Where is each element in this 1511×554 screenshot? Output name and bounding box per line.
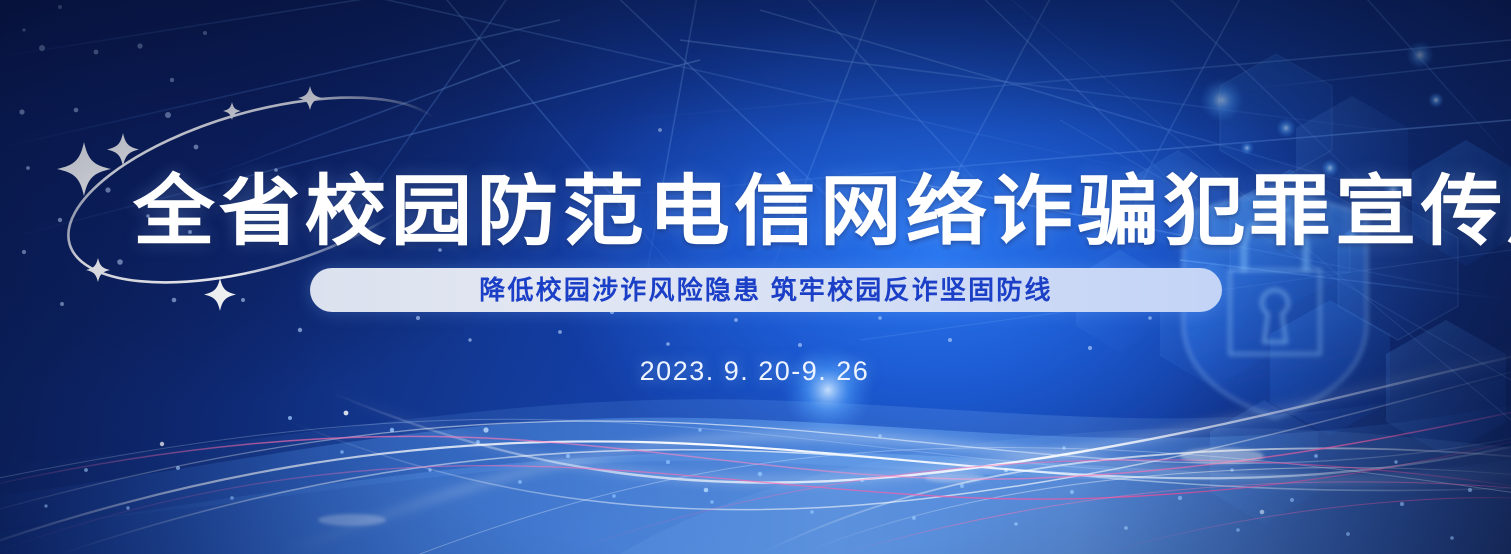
promo-banner: 全省校园防范电信网络诈骗犯罪宣传周 降低校园涉诈风险隐患 筑牢校园反诈坚固防线 … <box>0 0 1511 554</box>
event-date-range: 2023. 9. 20-9. 26 <box>0 356 1510 387</box>
page-title: 全省校园防范电信网络诈骗犯罪宣传周 <box>133 166 1458 258</box>
subtitle-pill: 降低校园涉诈风险隐患 筑牢校园反诈坚固防线 <box>310 268 1222 312</box>
subtitle-text: 降低校园涉诈风险隐患 筑牢校园反诈坚固防线 <box>479 268 1052 312</box>
